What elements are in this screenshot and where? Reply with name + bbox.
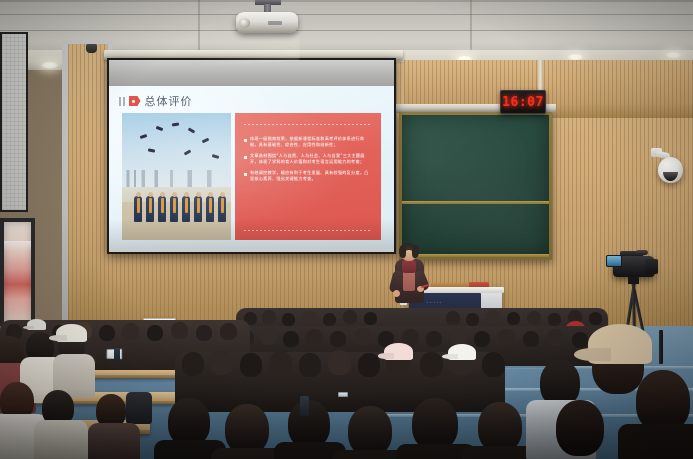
student xyxy=(420,352,443,377)
student xyxy=(527,311,541,325)
student-foreground xyxy=(478,402,522,452)
student xyxy=(306,329,323,346)
student xyxy=(358,353,380,377)
student xyxy=(122,323,139,340)
bullet-text: 文章选材围绕“人与自然、人与社会、人与自我”三大主题展开，体现了学科的育人价值和… xyxy=(250,153,372,165)
presentation-slide: 总体评价 xyxy=(109,86,394,251)
student xyxy=(466,313,479,326)
student-foreground xyxy=(42,390,74,426)
student xyxy=(589,312,602,325)
list-item: 体现一级指南效果，依据新课程标准和高考评价体系进行命制，具有基础性、综合性、应用… xyxy=(244,136,372,148)
slide-text-pane: 体现一级指南效果，依据新课程标准和高考评价体系进行命制，具有基础性、综合性、应用… xyxy=(235,113,381,240)
student xyxy=(220,323,237,340)
bullet-marker-icon xyxy=(244,156,247,159)
student xyxy=(147,325,163,341)
student-foreground xyxy=(0,382,34,420)
graduation-photo xyxy=(122,113,231,240)
downlight xyxy=(41,62,58,69)
student-white-cap xyxy=(450,349,474,375)
student-foreground xyxy=(168,398,210,446)
student-red-top xyxy=(568,310,582,324)
presenter-scarf xyxy=(402,260,416,273)
student xyxy=(323,313,336,326)
window-glare xyxy=(4,241,31,251)
student xyxy=(299,353,321,377)
slide-body: 体现一级指南效果，依据新课程标准和高考评价体系进行命制，具有基础性、综合性、应用… xyxy=(122,113,381,240)
student xyxy=(547,329,564,346)
student xyxy=(364,312,377,325)
baseball-cap xyxy=(448,344,476,360)
screen-top-band xyxy=(109,60,394,87)
lecture-hall-scene: 总体评价 xyxy=(0,0,693,459)
student xyxy=(240,353,262,377)
pennant-icon xyxy=(129,96,141,106)
baseball-cap xyxy=(56,324,87,342)
title-accent-bars-icon xyxy=(119,97,125,106)
graduate-figure xyxy=(206,196,214,222)
student xyxy=(302,311,316,325)
student-foreground xyxy=(348,406,392,456)
aisle-rail xyxy=(659,330,663,364)
student xyxy=(196,325,212,341)
student xyxy=(330,331,346,347)
student xyxy=(354,328,371,345)
student-foreground xyxy=(225,404,269,454)
list-item: 文章选材围绕“人与自然、人与社会、人与自我”三大主题展开，体现了学科的育人价值和… xyxy=(244,153,372,165)
bullet-text: 体现一级指南效果，依据新课程标准和高考评价体系进行命制，具有基础性、综合性、应用… xyxy=(250,136,372,148)
graduate-figure xyxy=(218,196,226,222)
bullet-marker-icon xyxy=(244,173,247,176)
baseball-cap xyxy=(384,343,413,360)
camera-lens-icon xyxy=(645,259,658,274)
student xyxy=(171,322,188,339)
student-foreground xyxy=(96,394,126,428)
thermos-bottle xyxy=(300,396,309,416)
graduate-figure xyxy=(134,196,142,222)
student xyxy=(210,350,233,375)
student xyxy=(328,350,351,375)
student xyxy=(450,328,467,345)
slide-title-row: 总体评价 xyxy=(119,93,193,109)
student xyxy=(482,352,505,377)
slide-title: 总体评价 xyxy=(145,93,193,109)
student-foreground xyxy=(636,370,690,432)
slide-bullet-list: 体现一级指南效果，依据新课程标准和高考评价体系进行命制，具有基础性、综合性、应用… xyxy=(244,136,372,182)
presenter xyxy=(388,243,430,305)
student xyxy=(507,312,520,325)
downlight xyxy=(665,52,682,59)
bullet-text: 有效调控教学，顺应有利于考生发展、具有较强的区分度，凸显核心素养、强化关键能力考… xyxy=(250,170,372,182)
student xyxy=(426,331,442,347)
student xyxy=(343,310,357,324)
student xyxy=(486,310,500,324)
student xyxy=(474,331,490,347)
exterior-window xyxy=(0,218,35,330)
student xyxy=(446,311,460,325)
list-item: 有效调控教学，顺应有利于考生发展、具有较强的区分度，凸显核心素养、强化关键能力考… xyxy=(244,170,372,182)
graduate-figure xyxy=(194,196,202,222)
led-wall-clock: 16:07 xyxy=(500,90,546,114)
student xyxy=(182,352,204,376)
student-foreground xyxy=(556,400,604,456)
thermos-bottle xyxy=(114,348,120,362)
divider-dotted-top xyxy=(244,124,372,125)
clock-time: 16:07 xyxy=(502,95,544,110)
baseball-cap xyxy=(588,324,652,364)
student-phone xyxy=(338,392,348,397)
graduate-figure xyxy=(182,196,190,222)
baseball-cap xyxy=(27,319,46,330)
student xyxy=(548,313,561,326)
student xyxy=(269,351,292,376)
graduate-figure xyxy=(158,196,166,222)
student-pink-cap xyxy=(386,348,411,375)
student xyxy=(523,331,539,347)
presenter-hair-left xyxy=(399,245,406,258)
divider-dotted-bottom xyxy=(244,230,372,231)
student xyxy=(572,332,588,348)
student-foreground-cap xyxy=(58,330,85,359)
student xyxy=(283,331,299,347)
presenter-hair-right xyxy=(412,245,419,258)
backpack xyxy=(126,392,152,424)
graduate-figure xyxy=(170,196,178,222)
graduate-figure xyxy=(146,196,154,222)
student xyxy=(99,325,115,341)
projector-lens-icon xyxy=(239,18,250,28)
presenter-hand-left xyxy=(393,290,400,297)
bullet-marker-icon xyxy=(244,139,247,142)
student xyxy=(260,328,277,345)
projection-screen: 总体评价 xyxy=(107,58,396,254)
projector-label xyxy=(268,21,282,25)
student xyxy=(498,329,515,346)
screen-bottom-strip xyxy=(109,249,394,252)
student-foreground xyxy=(412,398,458,450)
student xyxy=(262,310,276,324)
acoustic-panel-left xyxy=(0,32,28,212)
student xyxy=(282,313,295,326)
student-foreground xyxy=(288,400,330,448)
camera-lcd-screen xyxy=(606,255,622,267)
chalkboard xyxy=(399,112,552,260)
wall-wood-left xyxy=(68,44,108,334)
camera-microphone xyxy=(636,250,648,255)
wall-speaker xyxy=(86,44,97,53)
